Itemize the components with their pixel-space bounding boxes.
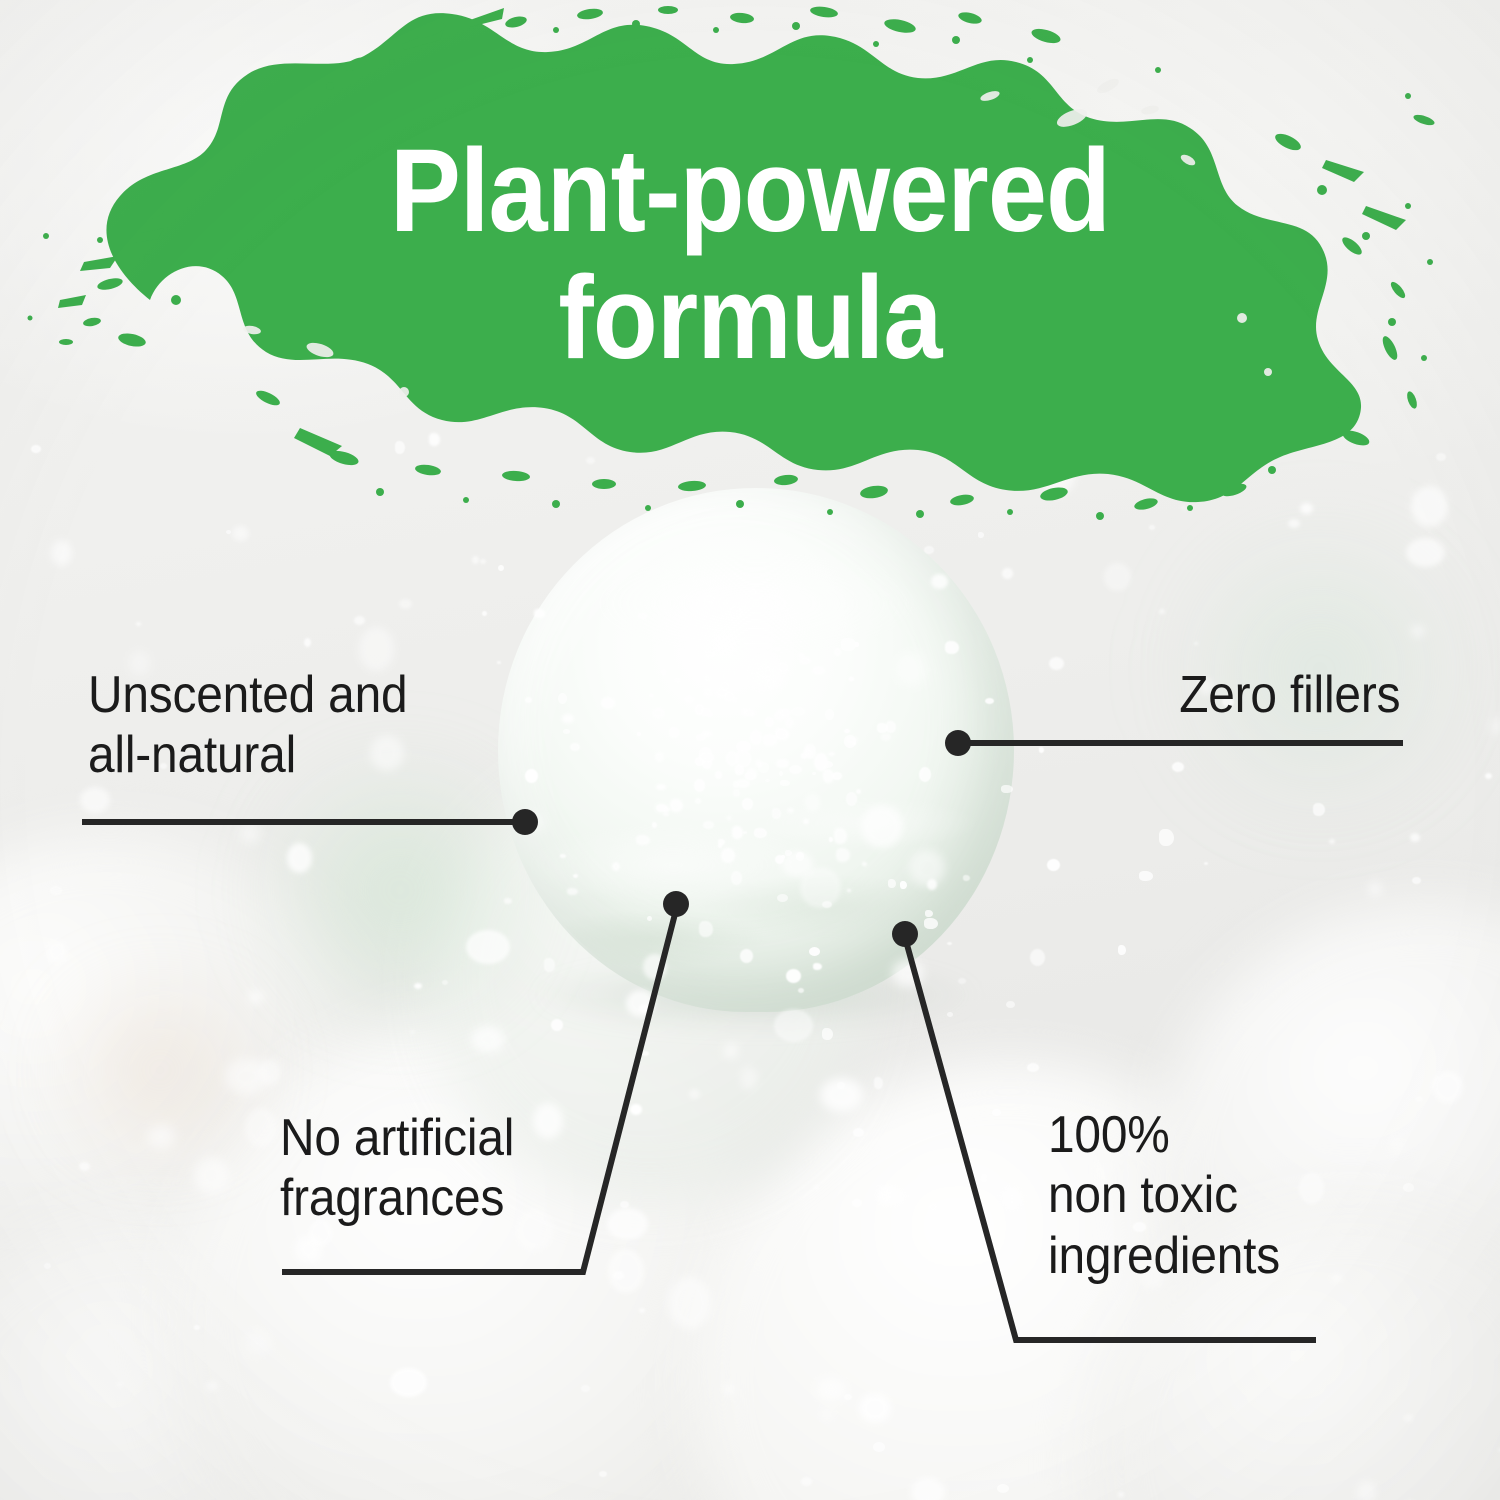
warm-tint	[30, 980, 290, 1160]
headline-line-1: Plant-powered	[390, 125, 1110, 257]
ball-texture	[498, 488, 1014, 1012]
wool-dryer-ball	[498, 488, 1014, 1012]
ball-body	[498, 488, 1014, 1012]
headline-line-2: formula	[558, 252, 941, 384]
callout-unscented: Unscented and all-natural	[88, 665, 407, 786]
callout-no-artificial-fragrances: No artificial fragrances	[280, 1108, 514, 1229]
infographic-canvas: Plant-powered formula Unscented and all-…	[0, 0, 1500, 1500]
callout-non-toxic: 100% non toxic ingredients	[1048, 1105, 1280, 1286]
page-title: Plant-powered formula	[75, 128, 1425, 383]
callout-zero-fillers: Zero fillers	[1179, 665, 1400, 725]
